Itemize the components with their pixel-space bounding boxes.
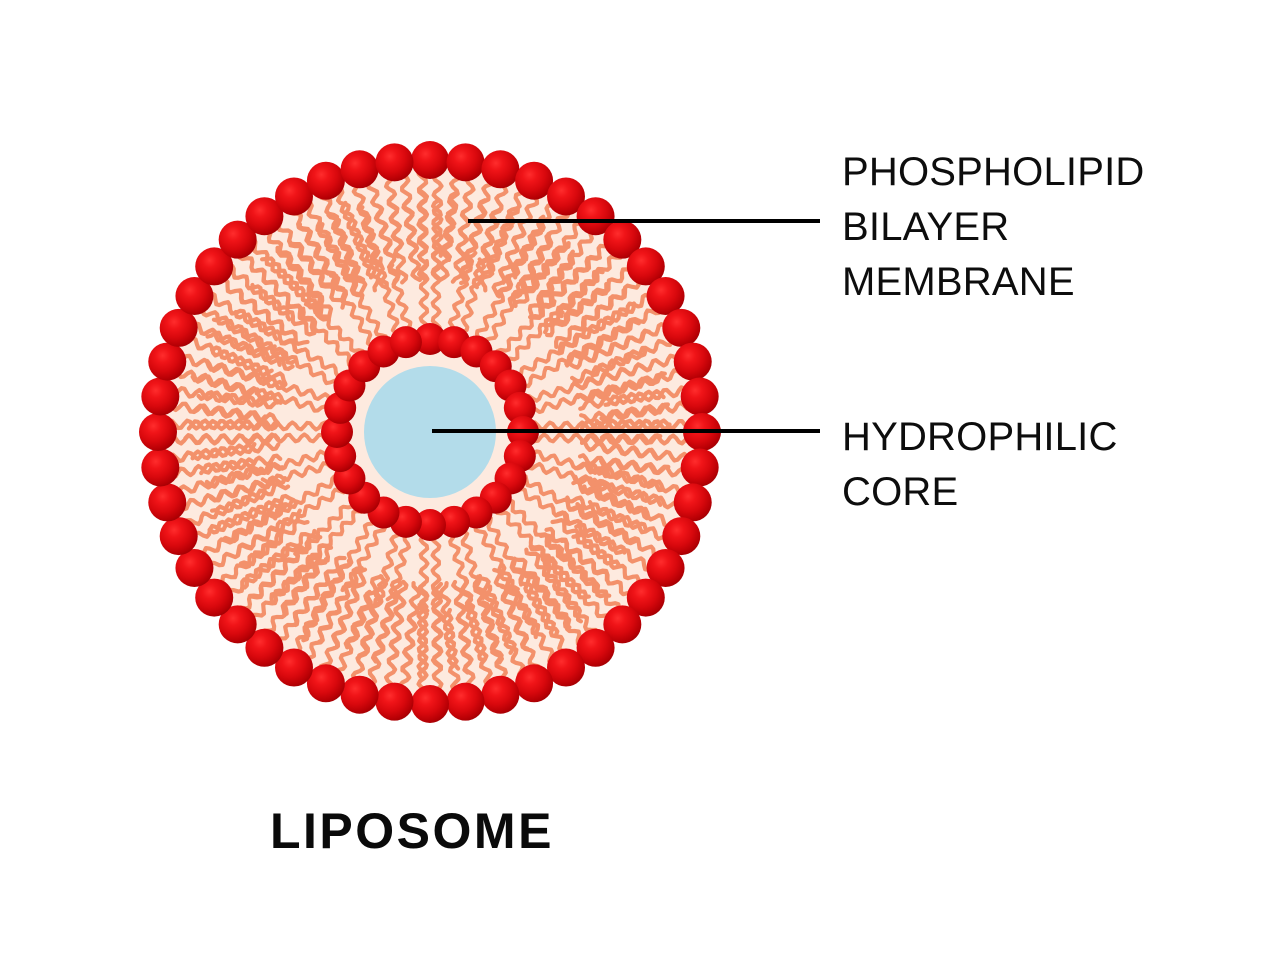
phospholipid-head bbox=[411, 141, 449, 179]
page-title: LIPOSOME bbox=[270, 803, 554, 859]
liposome-diagram-canvas: PHOSPHOLIPIDBILAYERMEMBRANEHYDROPHILICCO… bbox=[0, 0, 1280, 960]
phospholipid-head bbox=[341, 150, 379, 188]
phospholipid-head bbox=[141, 378, 179, 416]
liposome-figure: PHOSPHOLIPIDBILAYERMEMBRANEHYDROPHILICCO… bbox=[0, 0, 1280, 960]
phospholipid-head bbox=[141, 449, 179, 487]
annotation-label-phospholipid-bilayer-membrane: BILAYER bbox=[842, 205, 1009, 249]
phospholipid-head bbox=[447, 143, 485, 181]
phospholipid-head bbox=[148, 483, 186, 521]
annotation-label-hydrophilic-core: HYDROPHILIC bbox=[842, 415, 1118, 459]
phospholipid-head bbox=[307, 162, 345, 200]
phospholipid-head bbox=[376, 143, 414, 181]
phospholipid-head bbox=[674, 483, 712, 521]
phospholipid-head bbox=[160, 517, 198, 555]
phospholipid-head bbox=[341, 676, 379, 714]
phospholipid-head bbox=[674, 343, 712, 381]
phospholipid-head bbox=[481, 150, 519, 188]
phospholipid-head bbox=[376, 683, 414, 721]
phospholipid-head bbox=[447, 683, 485, 721]
phospholipid-head bbox=[681, 378, 719, 416]
phospholipid-head bbox=[515, 664, 553, 702]
phospholipid-head bbox=[411, 685, 449, 723]
annotation-label-phospholipid-bilayer-membrane: MEMBRANE bbox=[842, 260, 1075, 304]
annotation-label-phospholipid-bilayer-membrane: PHOSPHOLIPID bbox=[842, 150, 1144, 194]
phospholipid-head bbox=[139, 413, 177, 451]
phospholipid-head bbox=[390, 326, 422, 358]
phospholipid-head bbox=[481, 676, 519, 714]
annotation-label-hydrophilic-core: CORE bbox=[842, 470, 958, 514]
phospholipid-head bbox=[662, 309, 700, 347]
phospholipid-head bbox=[681, 449, 719, 487]
phospholipid-head bbox=[148, 343, 186, 381]
